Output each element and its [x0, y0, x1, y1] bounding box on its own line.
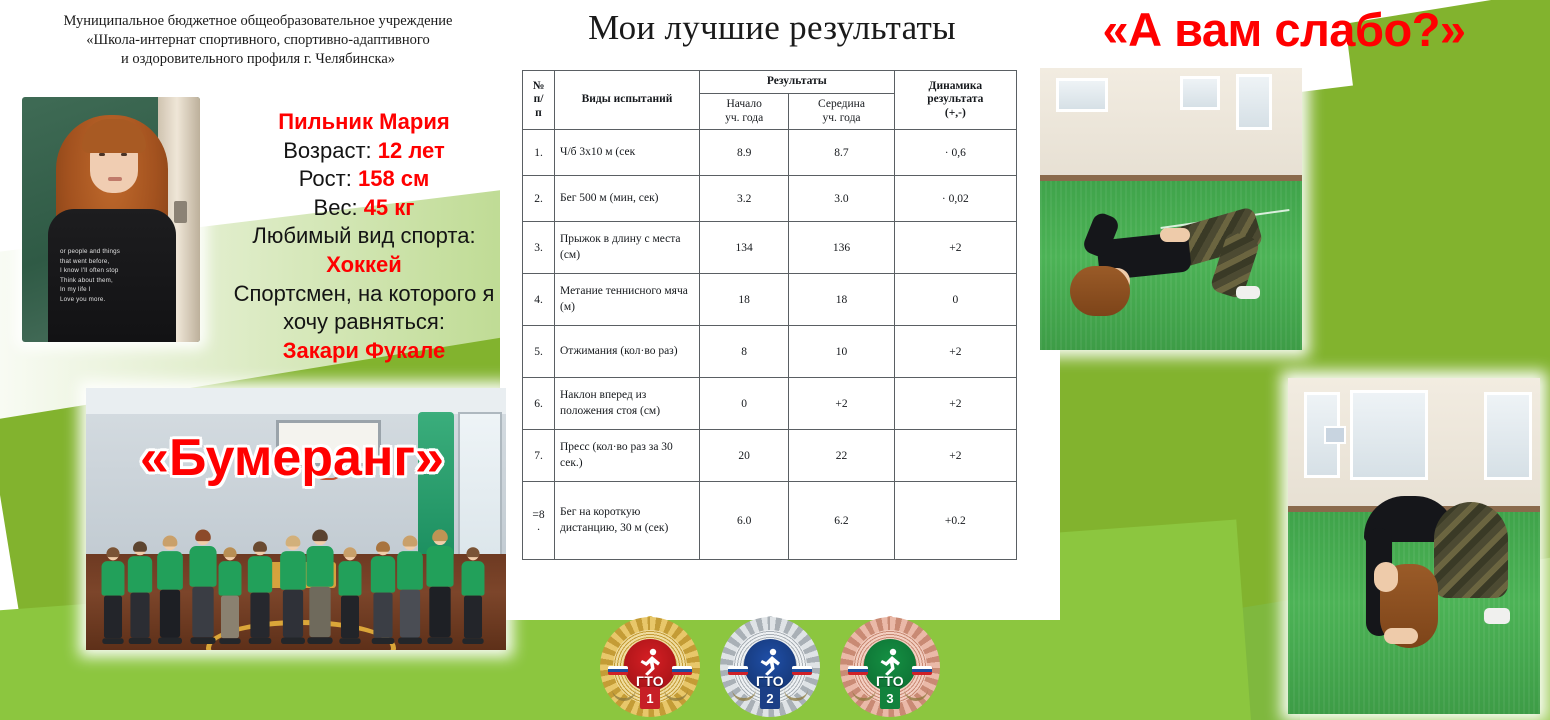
- team-member: [397, 535, 423, 644]
- badge-rank-number: 2: [760, 687, 780, 709]
- gym-ceiling: [86, 388, 506, 414]
- team-member: [462, 547, 485, 644]
- cell-dynamics: · 0,6: [894, 130, 1016, 176]
- student-height-value: 158 см: [358, 166, 429, 191]
- table-row: 4.Метание теннисного мяча (м)18180: [523, 274, 1017, 326]
- results-table-title: Мои лучшие результаты: [522, 8, 1022, 48]
- member-shoes: [307, 637, 332, 644]
- figure2-shoe: [1484, 608, 1510, 624]
- table-row: 2.Бег 500 м (мин, сек)3.23.0· 0,02: [523, 176, 1017, 222]
- results-table-head: № п/ п Виды испытаний Результаты Динамик…: [523, 71, 1017, 130]
- idol-label-line-1: Спортсмен, на которого я: [208, 280, 520, 309]
- team-name-headline: «Бумеранг»: [86, 428, 498, 488]
- team-member: [371, 541, 395, 644]
- member-hair: [432, 530, 448, 542]
- team-member: [339, 547, 362, 644]
- member-hair: [106, 547, 119, 557]
- header-mid-line-1: Середина: [794, 98, 888, 112]
- cell-mid-of-year: 8.7: [789, 130, 894, 176]
- favorite-sport-value: Хоккей: [208, 251, 520, 280]
- team-member: [128, 541, 152, 644]
- member-shirt: [157, 551, 183, 590]
- member-hair: [312, 530, 328, 542]
- member-shirt: [128, 556, 152, 593]
- student-age-label: Возраст:: [283, 138, 371, 163]
- member-hair: [286, 535, 301, 546]
- header-number-line-1: №: [528, 80, 549, 94]
- team-member: [248, 541, 272, 644]
- cell-row-number: 1.: [523, 130, 555, 176]
- cell-test-name: Пресс (кол·во раз за 30 сек.): [555, 430, 700, 482]
- student-weight-label: Вес:: [314, 195, 358, 220]
- member-shirt: [219, 561, 242, 595]
- member-pants: [341, 596, 359, 639]
- cell-row-number: 5.: [523, 326, 555, 378]
- member-hair: [223, 547, 236, 557]
- member-pants: [309, 587, 330, 637]
- cell-test-name: Ч/б 3х10 м (сек: [555, 130, 700, 176]
- turf-window-1b: [1180, 76, 1220, 110]
- badge-rank-number: 1: [640, 687, 660, 709]
- cell-test-name: Отжимания (кол·во раз): [555, 326, 700, 378]
- table-row: 5.Отжимания (кол·во раз)810+2: [523, 326, 1017, 378]
- cell-mid-of-year: 6.2: [789, 482, 894, 560]
- member-pants: [130, 593, 149, 638]
- member-hair: [163, 535, 178, 546]
- table-row: 3.Прыжок в длину с места (см)134136+2: [523, 222, 1017, 274]
- exercise-photo-glute-bridge: [1040, 68, 1302, 350]
- member-shirt: [397, 551, 423, 590]
- portrait-mouth: [108, 177, 122, 181]
- header-cell-start-of-year: Начало уч. года: [700, 93, 789, 130]
- header-cell-test-type: Виды испытаний: [555, 71, 700, 130]
- member-shoes: [190, 637, 215, 644]
- team-member: [219, 547, 242, 644]
- cell-row-number: 6.: [523, 378, 555, 430]
- member-pants: [221, 596, 239, 639]
- portrait-eye-right: [121, 153, 127, 156]
- cell-start-of-year: 6.0: [700, 482, 789, 560]
- member-shoes: [158, 638, 182, 644]
- student-name: Пильник Мария: [208, 108, 520, 137]
- cell-start-of-year: 0: [700, 378, 789, 430]
- cell-row-number: 3.: [523, 222, 555, 274]
- cell-start-of-year: 3.2: [700, 176, 789, 222]
- student-portrait-photo: or people and things that went before, I…: [22, 97, 200, 342]
- member-shoes: [372, 638, 395, 644]
- favorite-sport-label: Любимый вид спорта:: [208, 222, 520, 251]
- turf-poster-2a: [1324, 426, 1346, 444]
- header-cell-mid-of-year: Середина уч. года: [789, 93, 894, 130]
- member-shoes: [427, 637, 452, 644]
- figure2-pants: [1434, 502, 1508, 598]
- member-hair: [376, 541, 390, 551]
- cell-row-number: 2.: [523, 176, 555, 222]
- cell-dynamics: 0: [894, 274, 1016, 326]
- member-shoes: [129, 638, 152, 644]
- student-height-label: Рост:: [299, 166, 352, 191]
- cell-test-name: Бег на короткую дистанцию, 30 м (сек): [555, 482, 700, 560]
- cell-mid-of-year: +2: [789, 378, 894, 430]
- member-hair: [403, 535, 418, 546]
- turf-window-1a: [1056, 78, 1108, 112]
- member-shirt: [371, 556, 395, 593]
- team-member: [306, 530, 333, 644]
- member-hair: [466, 547, 479, 557]
- cell-row-number: 4.: [523, 274, 555, 326]
- member-shoes: [219, 638, 240, 644]
- member-shoes: [398, 638, 422, 644]
- member-pants: [160, 590, 180, 638]
- member-hair: [253, 541, 267, 551]
- cell-start-of-year: 18: [700, 274, 789, 326]
- team-member: [102, 547, 125, 644]
- member-hair: [195, 530, 211, 542]
- turf-window-2c: [1484, 392, 1532, 480]
- figure2-hand: [1384, 628, 1418, 644]
- table-row: 6.Наклон вперед из положения стоя (см)0+…: [523, 378, 1017, 430]
- cell-mid-of-year: 3.0: [789, 176, 894, 222]
- table-row: 1.Ч/б 3х10 м (сек8.98.7· 0,6: [523, 130, 1017, 176]
- cell-test-name: Прыжок в длину с места (см): [555, 222, 700, 274]
- member-pants: [400, 590, 420, 638]
- cell-mid-of-year: 22: [789, 430, 894, 482]
- cell-test-name: Метание теннисного мяча (м): [555, 274, 700, 326]
- results-table: № п/ п Виды испытаний Результаты Динамик…: [522, 70, 1017, 560]
- team-member: [426, 530, 453, 644]
- header-dynamics-line-1: Динамика: [900, 80, 1011, 94]
- header-mid-line-2: уч. года: [794, 112, 888, 126]
- member-pants: [429, 587, 450, 637]
- results-table-wrapper: № п/ п Виды испытаний Результаты Динамик…: [522, 70, 1017, 560]
- exercise-photo-backbend: [1288, 378, 1540, 714]
- cell-dynamics: +2: [894, 222, 1016, 274]
- cell-test-name: Наклон вперед из положения стоя (см): [555, 378, 700, 430]
- gto-badge-bronze: ГТО3: [840, 617, 940, 717]
- member-pants: [373, 593, 392, 638]
- badge-rank-number: 3: [880, 687, 900, 709]
- member-pants: [283, 590, 303, 638]
- cell-dynamics: +2: [894, 326, 1016, 378]
- member-shirt: [462, 561, 485, 595]
- header-cell-results: Результаты: [700, 71, 895, 94]
- header-dynamics-line-3: (+,-): [900, 107, 1011, 121]
- member-pants: [192, 587, 213, 637]
- poster-canvas: Муниципальное бюджетное общеобразователь…: [0, 0, 1550, 720]
- student-weight-value: 45 кг: [364, 195, 415, 220]
- cell-mid-of-year: 136: [789, 222, 894, 274]
- figure1-shoe: [1236, 286, 1260, 299]
- team-member: [189, 530, 216, 644]
- member-shirt: [426, 546, 453, 587]
- figure1-midriff: [1160, 228, 1190, 242]
- member-shirt: [102, 561, 125, 595]
- student-info-block: Пильник Мария Возраст: 12 лет Рост: 158 …: [208, 108, 520, 365]
- student-age-row: Возраст: 12 лет: [208, 137, 520, 166]
- member-shirt: [339, 561, 362, 595]
- school-header-line-3: и оздоровительного профиля г. Челябинска…: [8, 50, 508, 69]
- member-shoes: [281, 638, 305, 644]
- idol-label-line-2: хочу равняться:: [208, 308, 520, 337]
- table-row: =8 .Бег на короткую дистанцию, 30 м (сек…: [523, 482, 1017, 560]
- school-header-line-2: «Школа-интернат спортивного, спортивно-а…: [8, 31, 508, 50]
- turf-window-1c: [1236, 74, 1272, 130]
- portrait-eye-left: [99, 153, 105, 156]
- idol-value: Закари Фукале: [208, 337, 520, 366]
- cell-start-of-year: 8.9: [700, 130, 789, 176]
- student-age-value: 12 лет: [378, 138, 445, 163]
- header-number-line-2: п/: [528, 93, 549, 107]
- member-shirt: [306, 546, 333, 587]
- cell-start-of-year: 134: [700, 222, 789, 274]
- right-headline: «А вам слабо?»: [1034, 2, 1534, 57]
- gto-badges-row: ГТО1ГТО2ГТО3: [600, 614, 940, 720]
- cell-row-number: =8 .: [523, 482, 555, 560]
- table-row: 7.Пресс (кол·во раз за 30 сек.)2022+2: [523, 430, 1017, 482]
- figure1-hair: [1070, 266, 1130, 316]
- student-weight-row: Вес: 45 кг: [208, 194, 520, 223]
- member-pants: [464, 596, 482, 639]
- header-dynamics-line-2: результата: [900, 93, 1011, 107]
- school-header-line-1: Муниципальное бюджетное общеобразователь…: [8, 12, 508, 31]
- gto-badge-silver: ГТО2: [720, 617, 820, 717]
- member-shirt: [189, 546, 216, 587]
- cell-test-name: Бег 500 м (мин, сек): [555, 176, 700, 222]
- header-cell-number: № п/ п: [523, 71, 555, 130]
- cell-dynamics: +2: [894, 430, 1016, 482]
- cell-row-number: 7.: [523, 430, 555, 482]
- cell-mid-of-year: 18: [789, 274, 894, 326]
- header-start-line-2: уч. года: [705, 112, 783, 126]
- turf-window-2b: [1350, 390, 1428, 480]
- cell-mid-of-year: 10: [789, 326, 894, 378]
- school-header: Муниципальное бюджетное общеобразователь…: [8, 12, 508, 69]
- portrait-door-handle: [174, 201, 187, 223]
- cell-start-of-year: 20: [700, 430, 789, 482]
- member-hair: [343, 547, 356, 557]
- student-height-row: Рост: 158 см: [208, 165, 520, 194]
- portrait-shirt-text: or people and things that went before, I…: [60, 247, 164, 317]
- team-member: [280, 535, 306, 644]
- member-shoes: [249, 638, 272, 644]
- team-member: [157, 535, 183, 644]
- member-shirt: [248, 556, 272, 593]
- member-pants: [104, 596, 122, 639]
- header-number-line-3: п: [528, 107, 549, 121]
- figure2-face: [1374, 562, 1398, 592]
- cell-start-of-year: 8: [700, 326, 789, 378]
- member-hair: [133, 541, 147, 551]
- cell-dynamics: +0.2: [894, 482, 1016, 560]
- gto-badge-gold: ГТО1: [600, 617, 700, 717]
- table-header-row: № п/ п Виды испытаний Результаты Динамик…: [523, 71, 1017, 94]
- header-cell-dynamics: Динамика результата (+,-): [894, 71, 1016, 130]
- cell-dynamics: · 0,02: [894, 176, 1016, 222]
- member-shoes: [339, 638, 360, 644]
- member-shirt: [280, 551, 306, 590]
- cell-dynamics: +2: [894, 378, 1016, 430]
- member-shoes: [102, 638, 123, 644]
- member-pants: [250, 593, 269, 638]
- member-shoes: [462, 638, 483, 644]
- results-table-body: 1.Ч/б 3х10 м (сек8.98.7· 0,62.Бег 500 м …: [523, 130, 1017, 560]
- header-start-line-1: Начало: [705, 98, 783, 112]
